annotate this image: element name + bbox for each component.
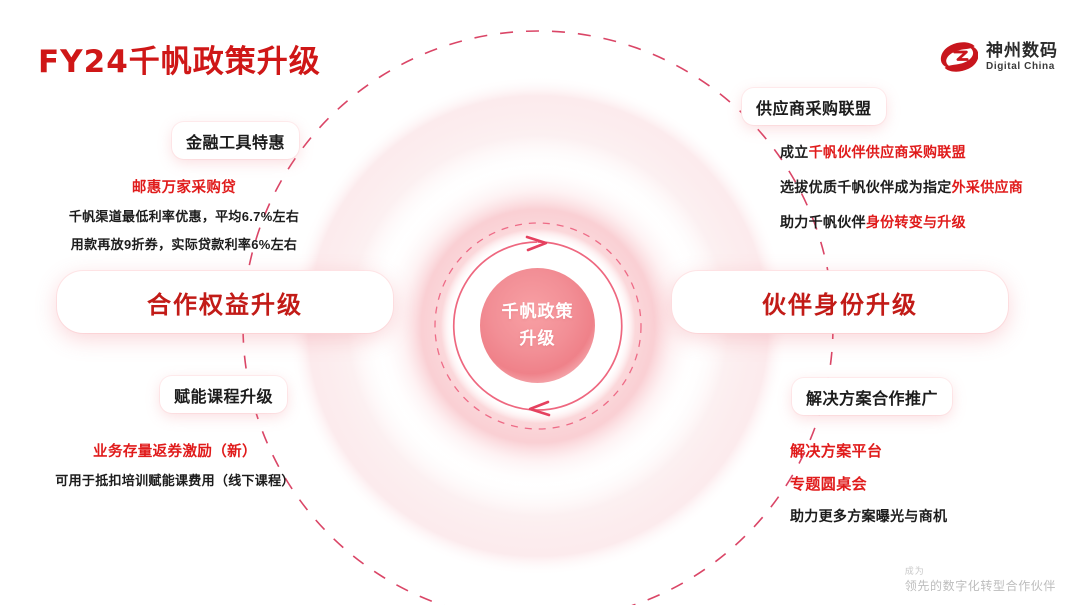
finance-highlight: 邮惠万家采购贷: [14, 176, 354, 197]
page-title: FY24千帆政策升级: [38, 36, 321, 81]
pill-financial-tool-offer[interactable]: 金融工具特惠: [172, 122, 299, 159]
block-financial-tool: 邮惠万家采购贷 千帆渠道最低利率优惠，平均6.7%左右 用款再放9折券，实际贷款…: [14, 176, 354, 253]
supplier-line-3-red: 身份转变与升级: [866, 214, 966, 230]
supplier-line-2-red: 外采供应商: [952, 179, 1024, 195]
footer-line-2: 领先的数字化转型合作伙伴: [905, 578, 1056, 595]
card-left-label: 合作权益升级: [147, 285, 303, 320]
logo-name-en: Digital China: [986, 62, 1058, 73]
logo-name-cn: 神州数码: [986, 42, 1058, 60]
slide-canvas: FY24千帆政策升级 神州数码 Digital China 千帆政策 升级 合作…: [0, 0, 1080, 605]
course-line-1: 可用于抵扣培训赋能课费用（线下课程）: [10, 470, 340, 489]
course-highlight: 业务存量返券激励（新）: [10, 440, 340, 461]
footer-line-1: 成为: [905, 565, 1056, 578]
supplier-line-3: 助力千帆伙伴身份转变与升级: [780, 212, 1070, 232]
solution-highlight-1: 解决方案平台: [790, 440, 1070, 461]
card-right-label: 伙伴身份升级: [762, 285, 918, 320]
supplier-line-2-black: 选拔优质千帆伙伴成为指定: [780, 179, 952, 195]
pill-enablement-course-upgrade[interactable]: 赋能课程升级: [160, 376, 287, 413]
supplier-line-1-red: 千帆伙伴供应商采购联盟: [809, 144, 966, 160]
supplier-line-3-black: 助力千帆伙伴: [780, 214, 866, 230]
digital-china-swirl-icon: [938, 40, 978, 74]
card-partner-identity-upgrade[interactable]: 伙伴身份升级: [672, 271, 1008, 333]
solution-highlight-2: 专题圆桌会: [790, 473, 1070, 494]
pill-finance-label: 金融工具特惠: [186, 129, 285, 153]
hub-line-2: 升级: [520, 326, 556, 352]
pill-course-label: 赋能课程升级: [174, 383, 273, 407]
pill-supplier-label: 供应商采购联盟: [756, 95, 872, 119]
finance-line-1: 千帆渠道最低利率优惠，平均6.7%左右: [14, 206, 354, 225]
solution-line-1: 助力更多方案曝光与商机: [790, 506, 1070, 526]
pill-solution-label: 解决方案合作推广: [806, 385, 938, 409]
center-hub: 千帆政策 升级: [480, 268, 595, 383]
hub-line-1: 千帆政策: [502, 299, 574, 325]
footer-slogan: 成为 领先的数字化转型合作伙伴: [905, 565, 1056, 595]
brand-logo: 神州数码 Digital China: [938, 40, 1058, 74]
card-cooperation-benefit-upgrade[interactable]: 合作权益升级: [57, 271, 393, 333]
finance-line-2: 用款再放9折券，实际贷款利率6%左右: [14, 234, 354, 253]
supplier-line-2: 选拔优质千帆伙伴成为指定外采供应商: [780, 177, 1070, 197]
block-supplier-alliance: 成立千帆伙伴供应商采购联盟 选拔优质千帆伙伴成为指定外采供应商 助力千帆伙伴身份…: [780, 142, 1070, 247]
supplier-line-1-black: 成立: [780, 144, 809, 160]
block-solution-promotion: 解决方案平台 专题圆桌会 助力更多方案曝光与商机: [790, 440, 1070, 526]
supplier-line-1: 成立千帆伙伴供应商采购联盟: [780, 142, 1070, 162]
block-enablement-course: 业务存量返券激励（新） 可用于抵扣培训赋能课费用（线下课程）: [10, 440, 340, 489]
pill-supplier-procurement-alliance[interactable]: 供应商采购联盟: [742, 88, 886, 125]
pill-solution-copromotion[interactable]: 解决方案合作推广: [792, 378, 952, 415]
